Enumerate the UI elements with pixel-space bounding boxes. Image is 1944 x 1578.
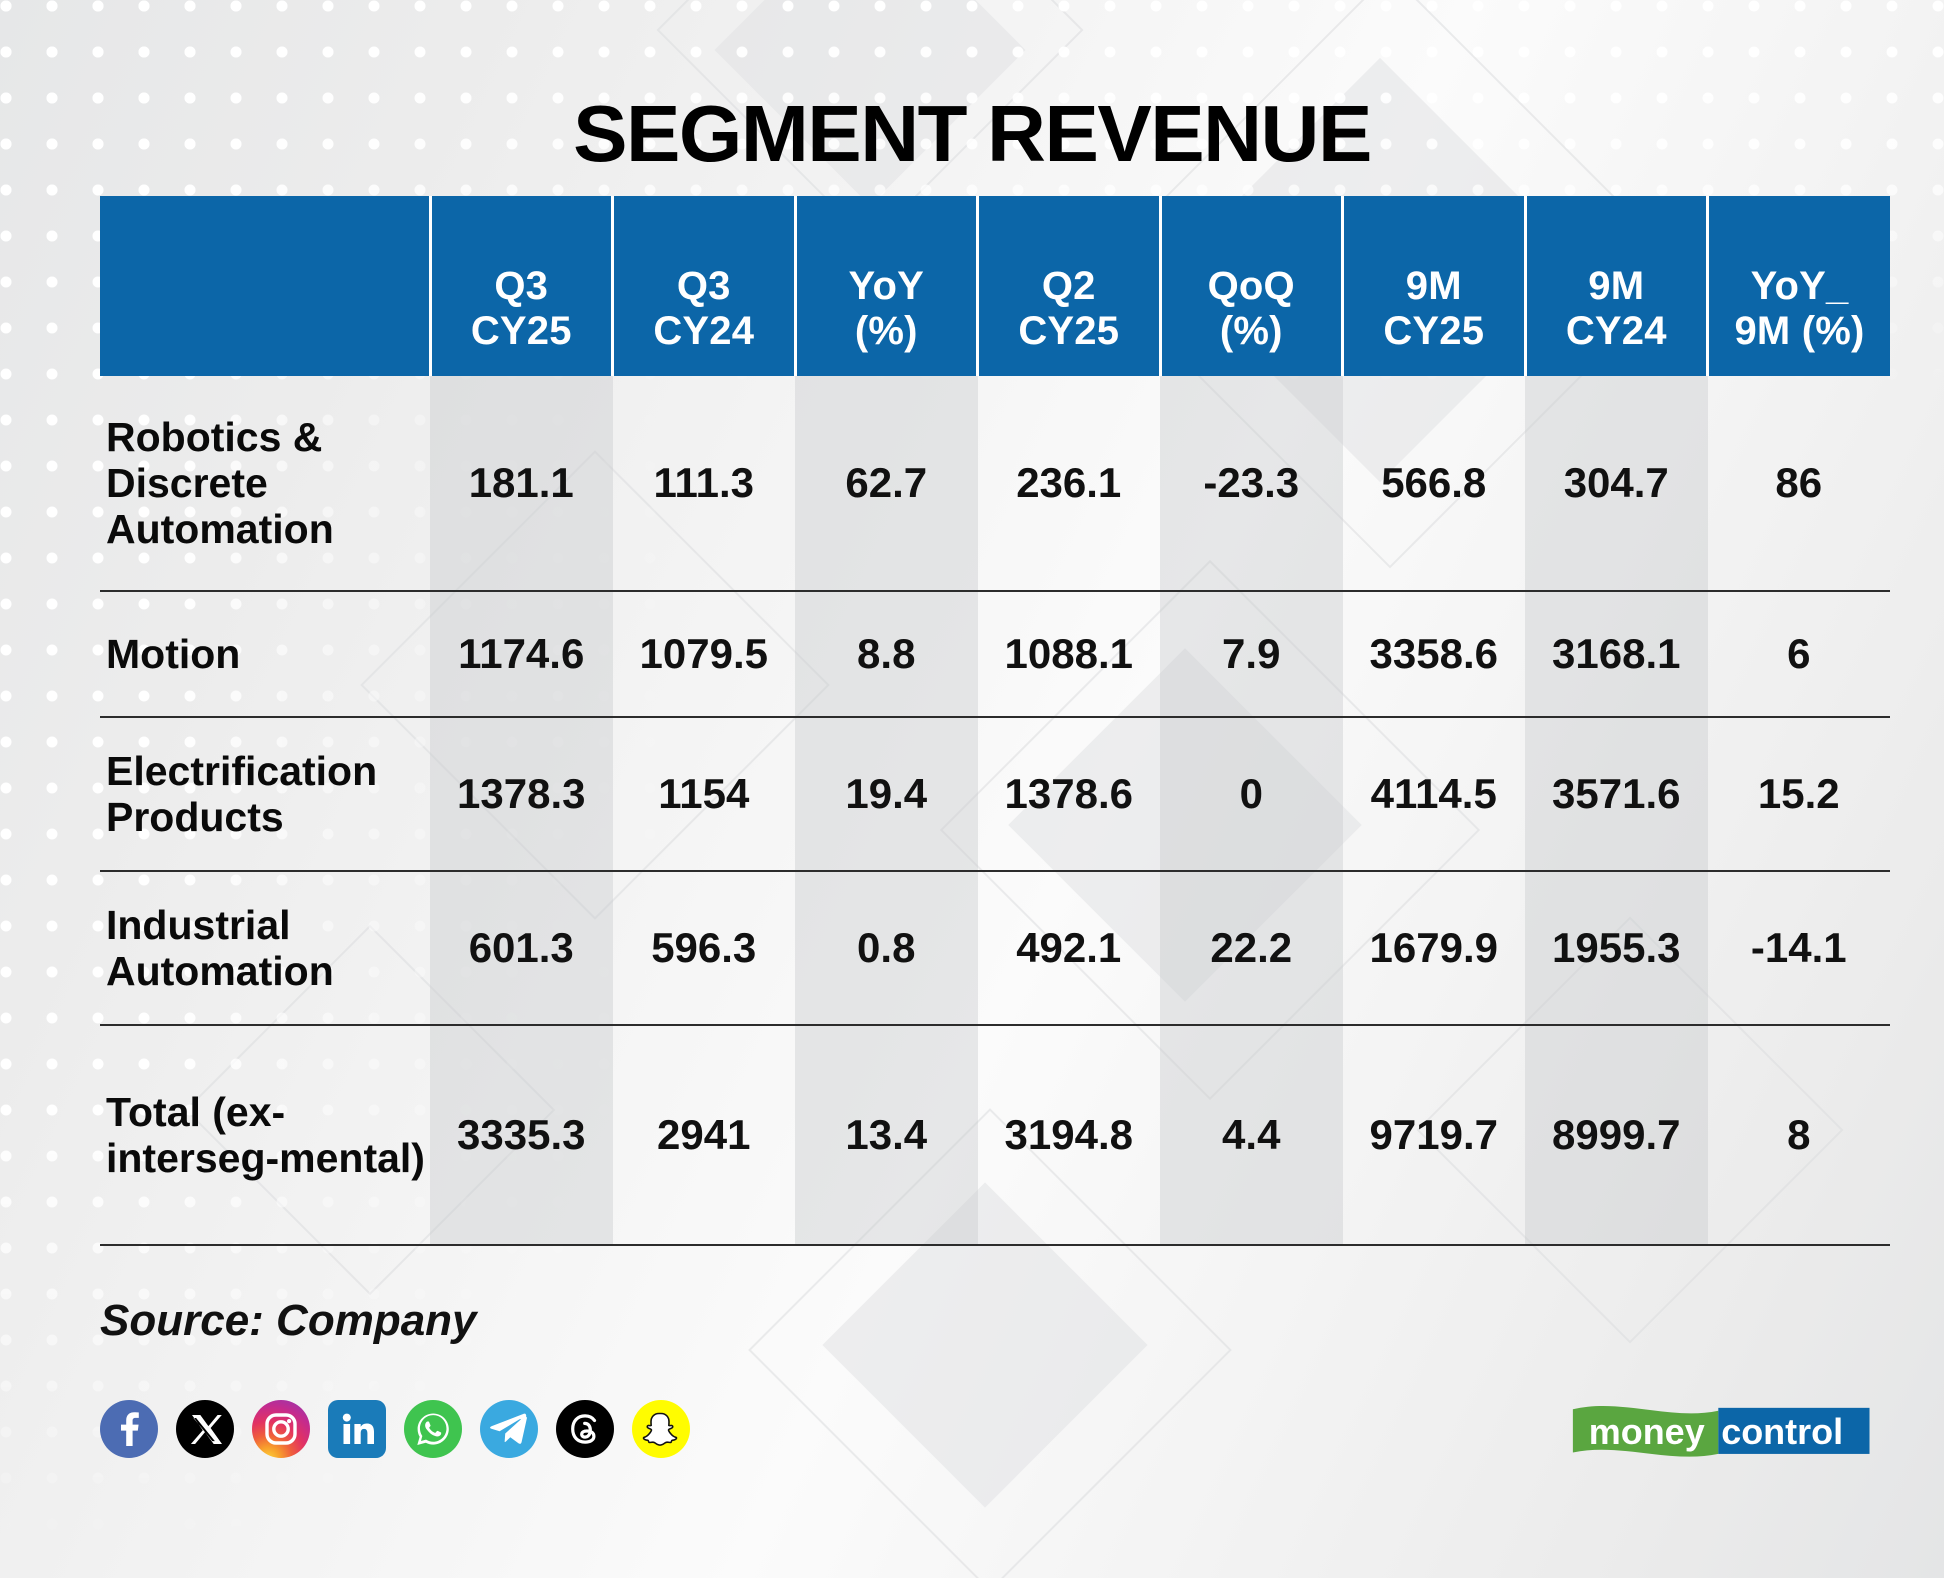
social-links — [100, 1400, 690, 1458]
table-row: Robotics & Discrete Automation 181.1 111… — [100, 376, 1890, 591]
column-header-line1: 9M — [1531, 264, 1703, 309]
cell-value: 566.8 — [1343, 376, 1526, 591]
whatsapp-icon[interactable] — [404, 1400, 462, 1458]
facebook-icon[interactable] — [100, 1400, 158, 1458]
column-header-line2: CY25 — [436, 309, 608, 354]
column-header-line2: CY24 — [1531, 309, 1703, 354]
column-header-line1: Q2 — [983, 264, 1155, 309]
table-body: Robotics & Discrete Automation 181.1 111… — [100, 376, 1890, 1245]
cell-value: 19.4 — [795, 717, 978, 871]
cell-value: 3194.8 — [978, 1025, 1161, 1245]
column-header-line1: 9M — [1348, 264, 1520, 309]
moneycontrol-logo: money control — [1570, 1392, 1872, 1464]
cell-value: 1679.9 — [1343, 871, 1526, 1025]
cell-value: 86 — [1708, 376, 1891, 591]
segment-revenue-table-container: Q3 CY25 Q3 CY24 YoY (%) Q2 CY25 — [100, 196, 1852, 1246]
cell-value: 13.4 — [795, 1025, 978, 1245]
x-twitter-icon[interactable] — [176, 1400, 234, 1458]
source-note: Source: Company — [100, 1296, 477, 1346]
telegram-icon[interactable] — [480, 1400, 538, 1458]
cell-value: 3358.6 — [1343, 591, 1526, 717]
cell-value: 6 — [1708, 591, 1891, 717]
instagram-icon[interactable] — [252, 1400, 310, 1458]
column-header-line2: (%) — [1166, 309, 1338, 354]
segment-revenue-table: Q3 CY25 Q3 CY24 YoY (%) Q2 CY25 — [100, 196, 1890, 1246]
column-header-q2-cy25: Q2 CY25 — [978, 196, 1161, 376]
column-header-line2: CY25 — [983, 309, 1155, 354]
cell-value: 7.9 — [1160, 591, 1343, 717]
column-header-line1: YoY — [801, 264, 973, 309]
cell-value: 111.3 — [613, 376, 796, 591]
column-header-qoq-pct: QoQ (%) — [1160, 196, 1343, 376]
column-header-line2: 9M (%) — [1713, 309, 1886, 354]
column-header-yoy-9m-pct: YoY_ 9M (%) — [1708, 196, 1891, 376]
row-label-electrification: Electrification Products — [100, 717, 430, 871]
logo-text-control: control — [1721, 1411, 1843, 1452]
cell-value: 1079.5 — [613, 591, 796, 717]
column-header-q3-cy24: Q3 CY24 — [613, 196, 796, 376]
cell-value: 596.3 — [613, 871, 796, 1025]
snapchat-icon[interactable] — [632, 1400, 690, 1458]
cell-value: 8999.7 — [1525, 1025, 1708, 1245]
cell-value: 236.1 — [978, 376, 1161, 591]
linkedin-icon[interactable] — [328, 1400, 386, 1458]
logo-text-money: money — [1588, 1411, 1704, 1452]
row-label-industrial-automation: Industrial Automation — [100, 871, 430, 1025]
cell-value: 1154 — [613, 717, 796, 871]
cell-value: 0.8 — [795, 871, 978, 1025]
cell-value: 3335.3 — [430, 1025, 613, 1245]
table-row: Electrification Products 1378.3 1154 19.… — [100, 717, 1890, 871]
cell-value: 1378.3 — [430, 717, 613, 871]
cell-value: 1378.6 — [978, 717, 1161, 871]
table-row: Total (ex-interseg-mental) 3335.3 2941 1… — [100, 1025, 1890, 1245]
column-header-yoy-pct: YoY (%) — [795, 196, 978, 376]
column-header-9m-cy24: 9M CY24 — [1525, 196, 1708, 376]
row-label-motion: Motion — [100, 591, 430, 717]
cell-value: 2941 — [613, 1025, 796, 1245]
table-row: Industrial Automation 601.3 596.3 0.8 49… — [100, 871, 1890, 1025]
cell-value: 22.2 — [1160, 871, 1343, 1025]
cell-value: 0 — [1160, 717, 1343, 871]
column-header-line2: (%) — [801, 309, 973, 354]
cell-value: 8 — [1708, 1025, 1891, 1245]
cell-value: -23.3 — [1160, 376, 1343, 591]
cell-value: 15.2 — [1708, 717, 1891, 871]
cell-value: 4.4 — [1160, 1025, 1343, 1245]
table-row: Motion 1174.6 1079.5 8.8 1088.1 7.9 3358… — [100, 591, 1890, 717]
cell-value: 1174.6 — [430, 591, 613, 717]
cell-value: 62.7 — [795, 376, 978, 591]
cell-value: 1955.3 — [1525, 871, 1708, 1025]
column-header-line2: CY25 — [1348, 309, 1520, 354]
cell-value: 181.1 — [430, 376, 613, 591]
column-header-line1: YoY_ — [1713, 264, 1886, 309]
cell-value: 3571.6 — [1525, 717, 1708, 871]
threads-icon[interactable] — [556, 1400, 614, 1458]
cell-value: -14.1 — [1708, 871, 1891, 1025]
cell-value: 4114.5 — [1343, 717, 1526, 871]
page-title: SEGMENT REVENUE — [0, 88, 1944, 180]
cell-value: 601.3 — [430, 871, 613, 1025]
row-label-total: Total (ex-interseg-mental) — [100, 1025, 430, 1245]
cell-value: 1088.1 — [978, 591, 1161, 717]
column-header-line2: CY24 — [618, 309, 790, 354]
cell-value: 304.7 — [1525, 376, 1708, 591]
cell-value: 3168.1 — [1525, 591, 1708, 717]
column-header-line1: QoQ — [1166, 264, 1338, 309]
column-header-q3-cy25: Q3 CY25 — [430, 196, 613, 376]
table-header: Q3 CY25 Q3 CY24 YoY (%) Q2 CY25 — [100, 196, 1890, 376]
infographic-canvas: SEGMENT REVENUE Q3 CY25 Q3 CY24 — [0, 0, 1944, 1578]
column-header-line1: Q3 — [618, 264, 790, 309]
table-header-row: Q3 CY25 Q3 CY24 YoY (%) Q2 CY25 — [100, 196, 1890, 376]
cell-value: 9719.7 — [1343, 1025, 1526, 1245]
column-header-9m-cy25: 9M CY25 — [1343, 196, 1526, 376]
column-header-segment — [100, 196, 430, 376]
cell-value: 492.1 — [978, 871, 1161, 1025]
cell-value: 8.8 — [795, 591, 978, 717]
column-header-line1: Q3 — [436, 264, 608, 309]
row-label-robotics: Robotics & Discrete Automation — [100, 376, 430, 591]
